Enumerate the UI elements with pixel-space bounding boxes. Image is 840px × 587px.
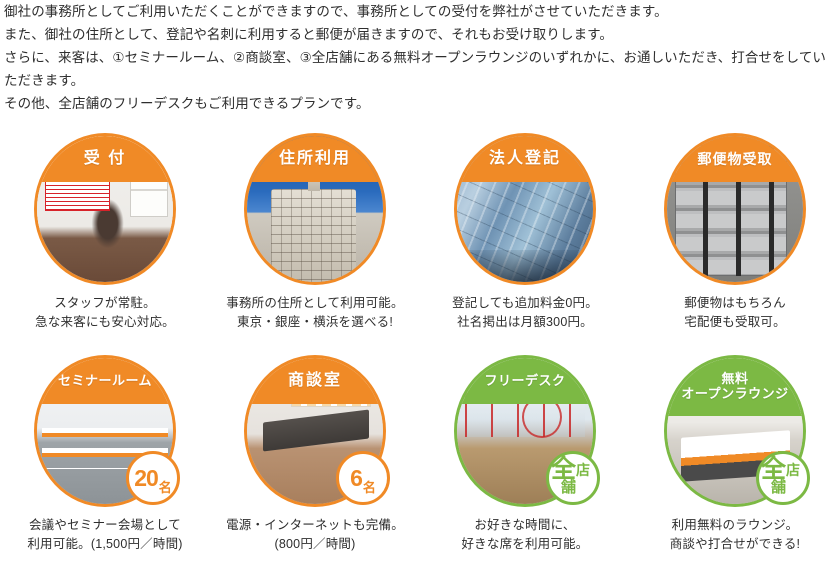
address-use-title: 住所利用	[279, 150, 351, 168]
all-stores-char-po: 舗	[561, 480, 576, 495]
all-stores-glyph-group: 全 店 舗	[551, 457, 595, 499]
reception-title-cap: 受 付	[37, 136, 173, 182]
address-use-title-cap: 住所利用	[247, 136, 383, 182]
free-desk-title-cap: フリーデスク	[457, 358, 593, 404]
service-row-1: 受 付 スタッフが常駐。 急な来客にも安心対応。 住所利用 事務所の住所として利…	[0, 133, 840, 355]
mail-receipt-title: 郵便物受取	[698, 151, 773, 167]
free-desk-all-stores-badge: 全 店 舗	[546, 451, 600, 505]
service-card-open-lounge[interactable]: 無料 オープンラウンジ 全 店 舗 利用無料のラウンジ。 商談や打合せができる!	[630, 355, 840, 587]
mail-receipt-bubble: 郵便物受取	[664, 133, 806, 285]
seminar-room-caption: 会議やセミナー会場として 利用可能。(1,500円／時間)	[27, 516, 182, 554]
mail-receipt-title-cap: 郵便物受取	[667, 136, 803, 182]
meeting-room-title: 商談室	[288, 372, 342, 390]
reception-bubble: 受 付	[34, 133, 176, 285]
intro-line-4: その他、全店舗のフリーデスクもご利用できるプランです。	[4, 92, 838, 115]
free-desk-bubble: フリーデスク 全 店 舗	[454, 355, 596, 507]
service-card-meeting-room[interactable]: 商談室 6 名 電源・インターネットも完備。 (800円／時間)	[210, 355, 420, 587]
free-desk-title: フリーデスク	[484, 374, 565, 389]
seminar-room-capacity-badge: 20 名	[126, 451, 180, 505]
meeting-room-title-cap: 商談室	[247, 358, 383, 404]
open-lounge-all-stores-badge: 全 店 舗	[756, 451, 810, 505]
service-card-reception[interactable]: 受 付 スタッフが常駐。 急な来客にも安心対応。	[0, 133, 210, 355]
address-use-photo-frame: 住所利用	[244, 133, 386, 285]
mail-receipt-caption: 郵便物はもちろん 宅配便も受取可。	[684, 294, 786, 332]
corporate-registration-caption: 登記しても追加料金0円。 社名掲出は月額300円。	[452, 294, 598, 332]
seminar-room-capacity-number: 20	[134, 467, 158, 490]
intro-paragraph: 御社の事務所としてご利用いただくことができますので、事務所としての受付を弊社がさ…	[4, 0, 838, 115]
open-lounge-title-cap: 無料 オープンラウンジ	[667, 358, 803, 416]
open-lounge-caption: 利用無料のラウンジ。 商談や打合せができる!	[670, 516, 800, 554]
service-row-2: セミナールーム 20 名 会議やセミナー会場として 利用可能。(1,500円／時…	[0, 355, 840, 587]
seminar-room-title: セミナールーム	[58, 374, 152, 389]
seminar-room-capacity-unit: 名	[159, 481, 172, 494]
service-card-address-use[interactable]: 住所利用 事務所の住所として利用可能。 東京・銀座・横浜を選べる!	[210, 133, 420, 355]
corporate-registration-photo-frame: 法人登記	[454, 133, 596, 285]
corporate-registration-bubble: 法人登記	[454, 133, 596, 285]
service-card-grid: 受 付 スタッフが常駐。 急な来客にも安心対応。 住所利用 事務所の住所として利…	[0, 133, 840, 587]
seminar-room-bubble: セミナールーム 20 名	[34, 355, 176, 507]
free-desk-caption: お好きな時間に、 好きな席を利用可能。	[461, 516, 588, 554]
meeting-room-capacity-badge: 6 名	[336, 451, 390, 505]
meeting-room-caption: 電源・インターネットも完備。 (800円／時間)	[226, 516, 404, 554]
open-lounge-title: 無料 オープンラウンジ	[681, 372, 788, 402]
meeting-room-bubble: 商談室 6 名	[244, 355, 386, 507]
service-card-seminar-room[interactable]: セミナールーム 20 名 会議やセミナー会場として 利用可能。(1,500円／時…	[0, 355, 210, 587]
address-use-bubble: 住所利用	[244, 133, 386, 285]
service-card-corporate-registration[interactable]: 法人登記 登記しても追加料金0円。 社名掲出は月額300円。	[420, 133, 630, 355]
all-stores-glyph-group: 全 店 舗	[761, 457, 805, 499]
address-use-caption: 事務所の住所として利用可能。 東京・銀座・横浜を選べる!	[226, 294, 403, 332]
corporate-registration-title-cap: 法人登記	[457, 136, 593, 182]
corporate-registration-title: 法人登記	[489, 150, 561, 168]
service-card-free-desk[interactable]: フリーデスク 全 店 舗 お好きな時間に、 好きな席を利用可能。	[420, 355, 630, 587]
reception-caption: スタッフが常駐。 急な来客にも安心対応。	[35, 294, 175, 332]
meeting-room-capacity-number: 6	[350, 467, 362, 490]
mail-receipt-photo-frame: 郵便物受取	[664, 133, 806, 285]
intro-line-1: 御社の事務所としてご利用いただくことができますので、事務所としての受付を弊社がさ…	[4, 0, 838, 23]
intro-line-3: さらに、来客は、①セミナールーム、②商談室、③全店舗にある無料オープンラウンジの…	[4, 46, 838, 92]
reception-photo-frame: 受 付	[34, 133, 176, 285]
all-stores-char-ten: 店	[576, 463, 590, 477]
meeting-room-capacity-unit: 名	[363, 481, 376, 494]
all-stores-char-ten: 店	[786, 463, 800, 477]
seminar-room-title-cap: セミナールーム	[37, 358, 173, 404]
all-stores-char-po: 舗	[771, 480, 786, 495]
service-card-mail-receipt[interactable]: 郵便物受取 郵便物はもちろん 宅配便も受取可。	[630, 133, 840, 355]
reception-title: 受 付	[84, 150, 126, 168]
intro-line-2: また、御社の住所として、登記や名刺に利用すると郵便が届きますので、それもお受け取…	[4, 23, 838, 46]
open-lounge-bubble: 無料 オープンラウンジ 全 店 舗	[664, 355, 806, 507]
